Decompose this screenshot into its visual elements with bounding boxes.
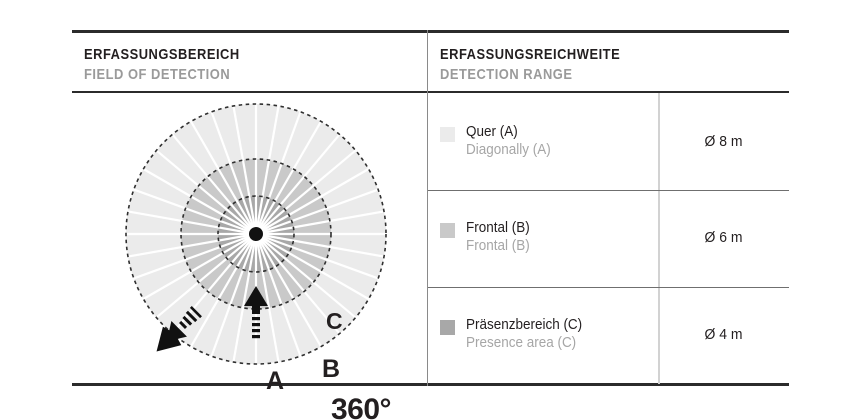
frame-rule-top <box>72 30 789 33</box>
diagram-label-a: A <box>266 369 284 394</box>
diagram-label-b: B <box>322 357 340 382</box>
arrow-b-dash-4 <box>252 335 260 338</box>
range-value-b: Ø 6 m <box>663 229 785 246</box>
legend-b-en: Frontal (B) <box>466 237 530 255</box>
sensor-center-dot <box>249 227 263 241</box>
swatch-a <box>440 127 455 142</box>
column-divider-range <box>658 93 660 384</box>
arrow-b-dash-1 <box>252 317 260 320</box>
legend-text-b: Frontal (B) Frontal (B) <box>466 219 535 255</box>
header-left-de: ERFASSUNGSBEREICH <box>84 46 240 63</box>
range-value-c: Ø 4 m <box>663 326 785 343</box>
header-right-de: ERFASSUNGSREICHWEITE <box>440 46 620 63</box>
column-divider-main <box>427 30 428 386</box>
legend-b-de: Frontal (B) <box>466 219 530 237</box>
legend-a-de: Quer (A) <box>466 123 551 141</box>
swatch-b <box>440 223 455 238</box>
legend-text-a: Quer (A) Diagonally (A) <box>466 123 557 159</box>
arrow-b-dash-2 <box>252 323 260 326</box>
detection-field-svg <box>96 74 416 374</box>
legend-text-c: Präsenzbereich (C) Presence area (C) <box>466 316 591 352</box>
arrow-b-dash-3 <box>252 329 260 332</box>
header-detection-range: ERFASSUNGSREICHWEITE DETECTION RANGE <box>440 46 650 83</box>
row-separator-1 <box>428 190 789 191</box>
row-separator-2 <box>428 287 789 288</box>
range-value-a: Ø 8 m <box>663 133 785 150</box>
diagram-label-angle: 360° <box>331 395 391 420</box>
frame-rule-bottom <box>72 383 789 386</box>
legend-c-de: Präsenzbereich (C) <box>466 316 582 334</box>
header-right-en: DETECTION RANGE <box>440 66 620 83</box>
legend-a-en: Diagonally (A) <box>466 141 551 159</box>
legend-c-en: Presence area (C) <box>466 334 582 352</box>
diagram-label-c: C <box>326 310 343 333</box>
datasheet-panel: ERFASSUNGSBEREICH FIELD OF DETECTION ERF… <box>0 0 861 420</box>
swatch-c <box>440 320 455 335</box>
detection-field-diagram: C B A 360° <box>96 74 416 374</box>
